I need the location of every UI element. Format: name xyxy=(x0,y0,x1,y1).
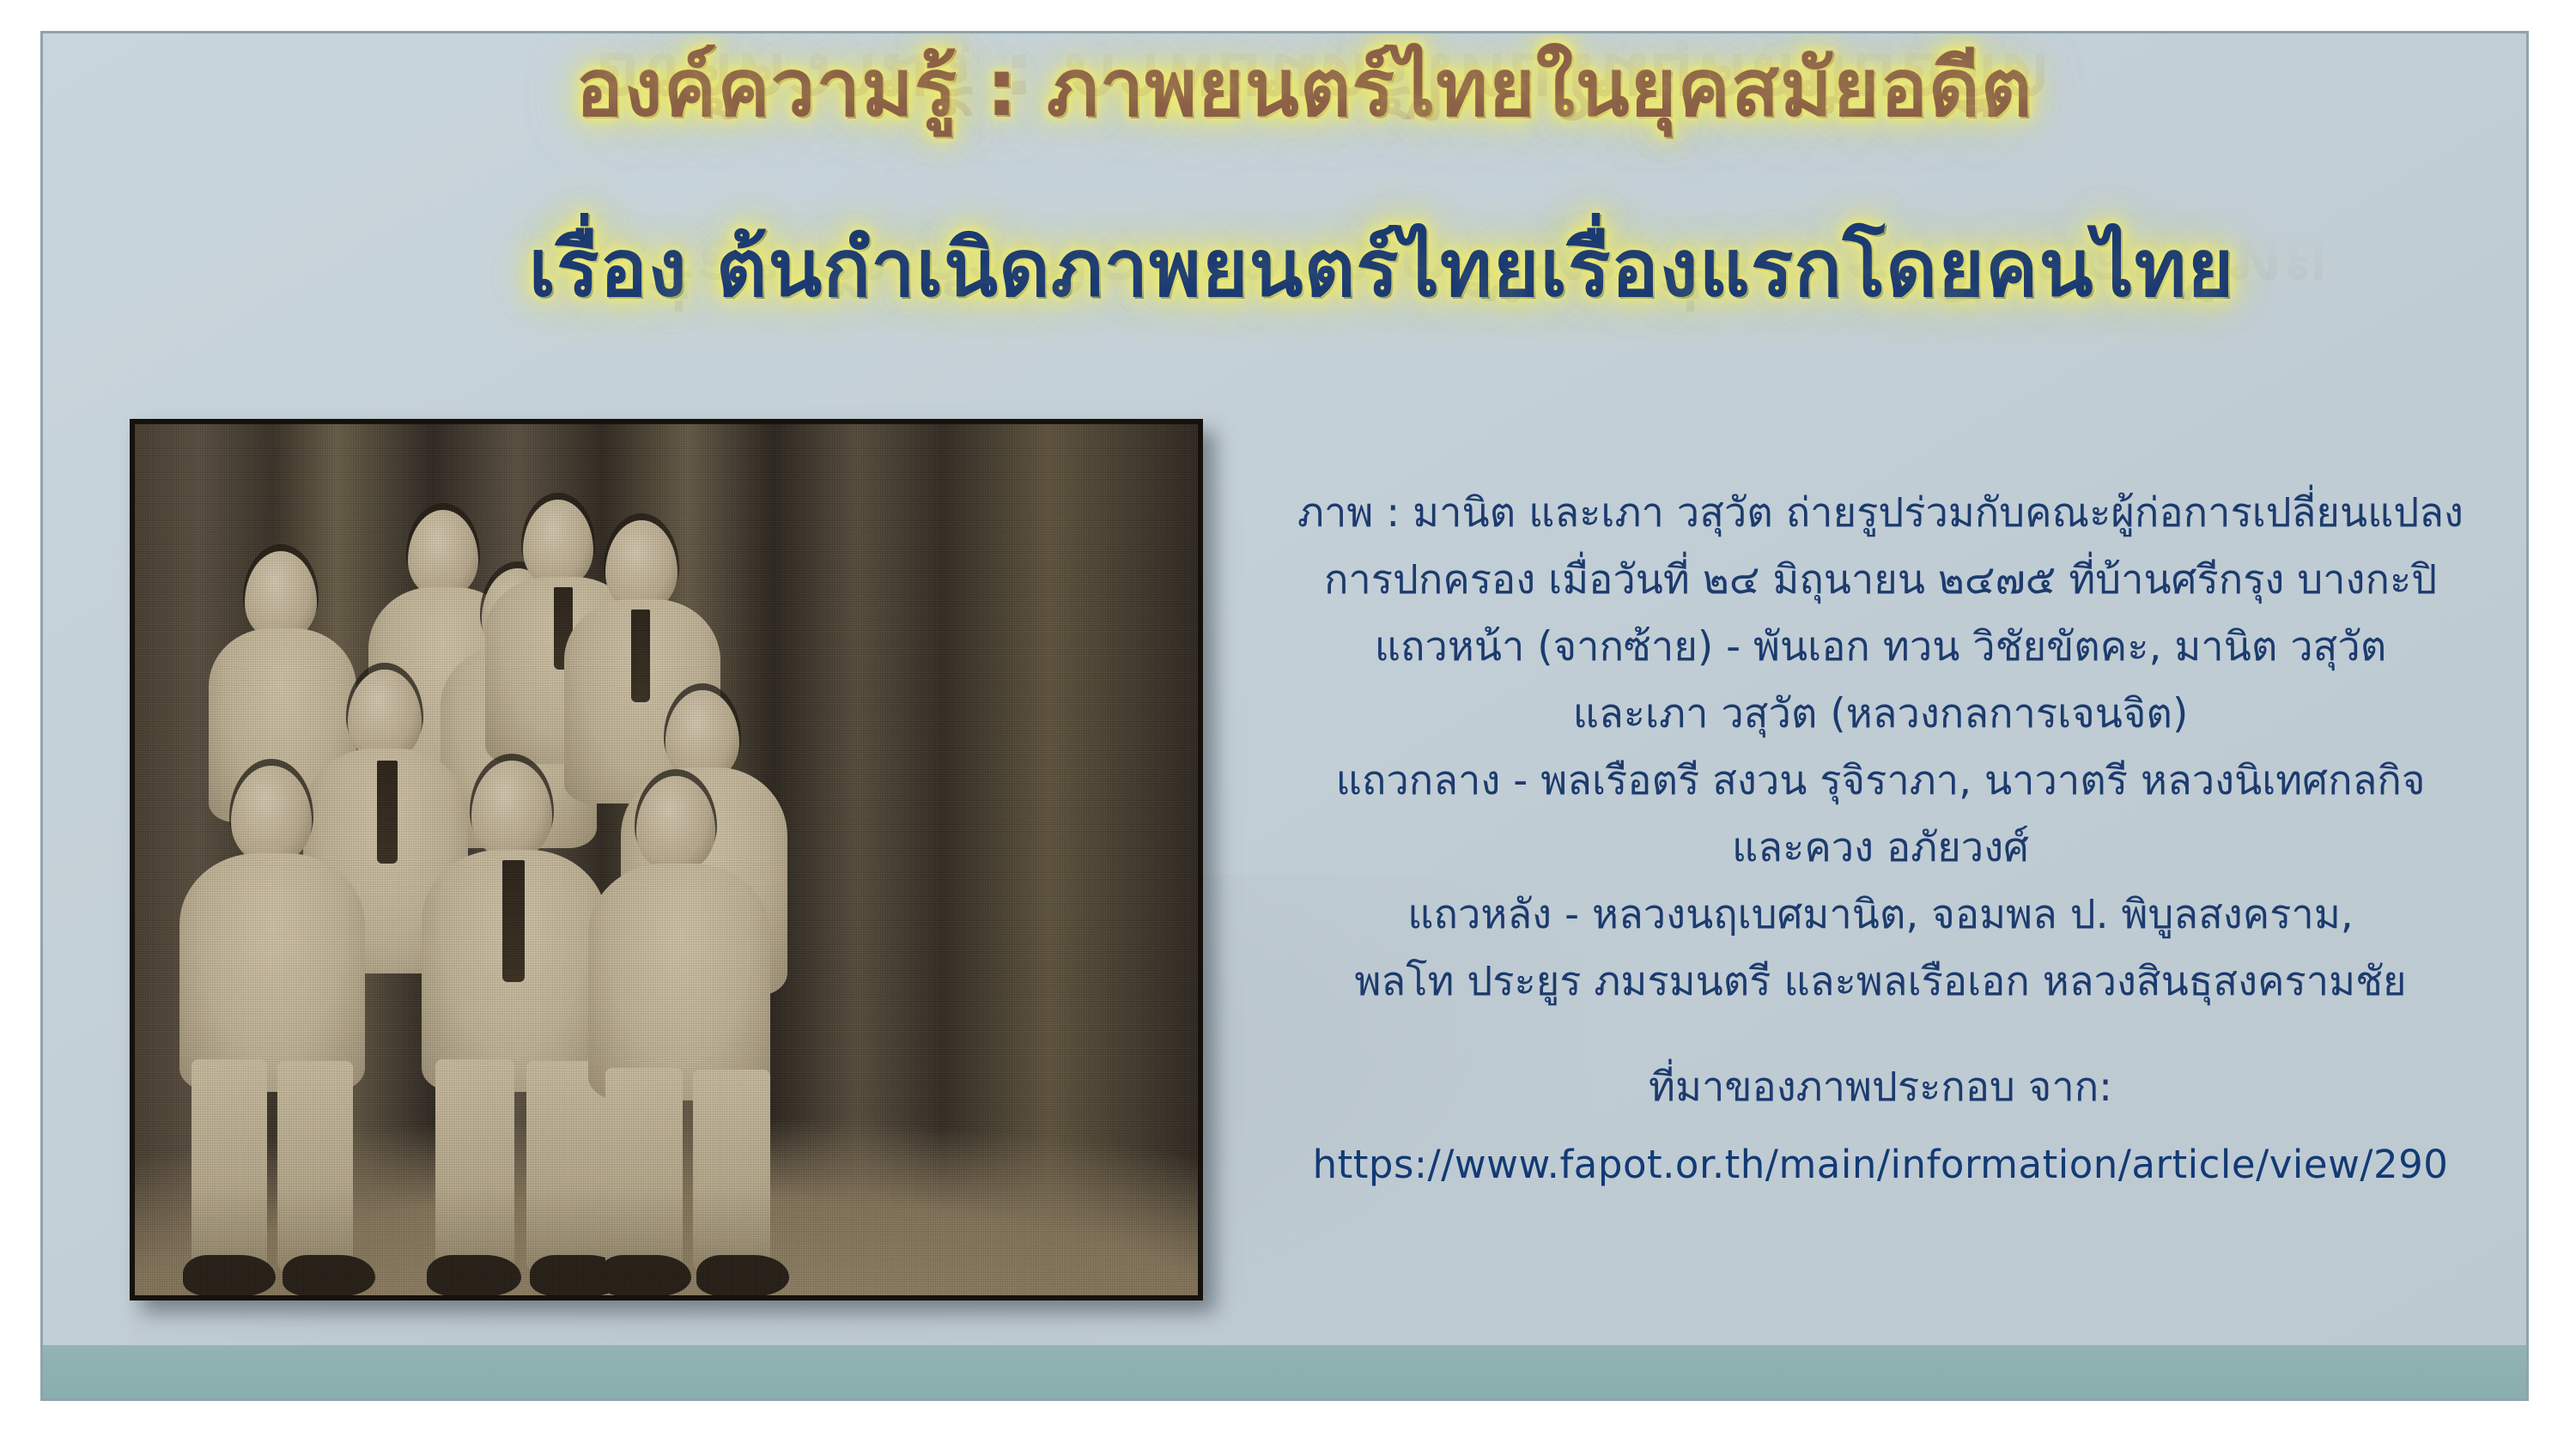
source-label: ที่มาของภาพประกอบ จาก: xyxy=(1262,1057,2499,1119)
photo-figure-tie xyxy=(502,860,525,982)
photo-figure-tie xyxy=(631,609,650,702)
title-line-primary: องค์ความรู้ : ภาพยนตร์ไทยในยุคสมัยอดีต xyxy=(43,49,2529,128)
photo-figure-legs xyxy=(605,1068,683,1274)
source-url-link[interactable]: https://www.fapot.or.th/main/information… xyxy=(1262,1137,2499,1192)
photo-figure-head xyxy=(523,500,593,587)
caption-line: การปกครอง เมื่อวันที่ ๒๔ มิถุนายน ๒๔๗๕ ท… xyxy=(1262,547,2499,614)
photo-figure-head xyxy=(605,520,677,611)
photo-figure-legs xyxy=(526,1061,605,1274)
photo-figure-legs xyxy=(435,1059,514,1274)
bottom-accent-band xyxy=(43,1345,2526,1398)
title-line-secondary: เรื่อง ต้นกำเนิดภาพยนตร์ไทยเรื่องแรกโดยค… xyxy=(43,229,2529,308)
caption-line: ภาพ : มานิต และเภา วสุวัต ถ่ายรูปร่วมกับ… xyxy=(1262,480,2499,547)
title-block: องค์ความรู้ : ภาพยนตร์ไทยในยุคสมัยอดีต อ… xyxy=(43,49,2529,128)
caption-line: และควง อภัยวงศ์ xyxy=(1262,815,2499,882)
photo-figure-shoe xyxy=(427,1255,521,1296)
caption-line: และเภา วสุวัต (หลวงกลการเจนจิต) xyxy=(1262,681,2499,748)
photo-figure-shoe xyxy=(283,1255,375,1296)
title-subline-block: เรื่อง ต้นกำเนิดภาพยนตร์ไทยเรื่องแรกโดยค… xyxy=(43,229,2529,308)
slide-canvas: องค์ความรู้ : ภาพยนตร์ไทยในยุคสมัยอดีต อ… xyxy=(40,31,2529,1401)
photo-figure-legs xyxy=(693,1070,770,1274)
photo-figure-legs xyxy=(191,1059,267,1274)
photo-figure-shoe xyxy=(696,1255,789,1296)
photo-figure-tie xyxy=(377,761,398,864)
caption-block: ภาพ : มานิต และเภา วสุวัต ถ่ายรูปร่วมกับ… xyxy=(1262,480,2499,1192)
caption-line: แถวหลัง - หลวงนฤเบศมานิต, จอมพล ป. พิบูล… xyxy=(1262,882,2499,949)
photo-figure-head xyxy=(245,551,317,640)
photo-figure-shoe xyxy=(183,1255,276,1296)
photo-figure-shoe xyxy=(598,1255,691,1296)
photo-figure-torso xyxy=(179,853,365,1092)
photo-figure-legs xyxy=(277,1061,353,1274)
photo-figure-head xyxy=(408,510,478,597)
caption-line: แถวกลาง - พลเรือตรี สงวน รุจิราภา, นาวาต… xyxy=(1262,748,2499,815)
photo-figure-torso xyxy=(588,864,770,1100)
photo-image xyxy=(135,424,1198,1295)
caption-line: แถวหน้า (จากซ้าย) - พันเอก ทวน วิชัยขัตค… xyxy=(1262,614,2499,681)
caption-line: พลโท ประยูร ภมรมนตรี และพลเรือเอก หลวงสิ… xyxy=(1262,949,2499,1016)
historical-photo xyxy=(130,419,1203,1300)
